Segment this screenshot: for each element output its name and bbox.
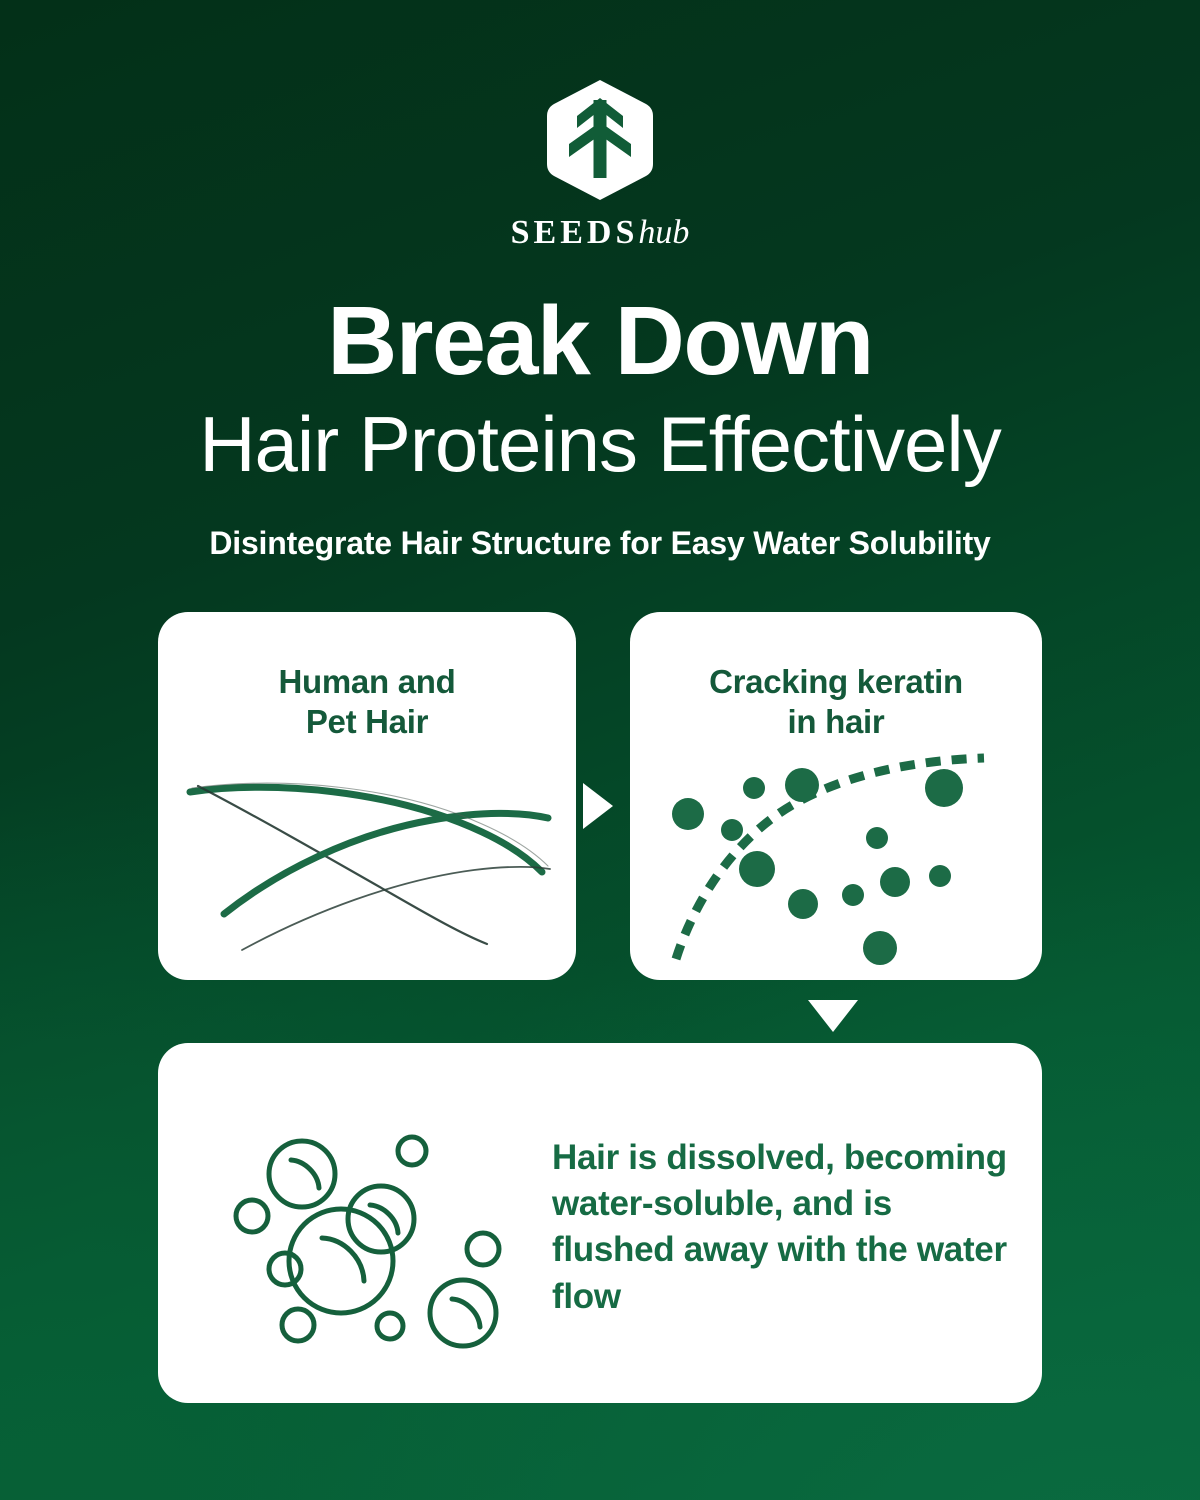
brand-logo: SEEDShub bbox=[0, 78, 1200, 250]
step-card-hair-dissolved: Hair is dissolved, becoming water-solubl… bbox=[158, 1043, 1042, 1403]
pine-tree-hexagon-icon bbox=[543, 78, 657, 202]
step-card-human-and-pet-hair: Human and Pet Hair bbox=[158, 612, 576, 980]
page-subheadline: Hair Proteins Effectively bbox=[0, 400, 1200, 490]
card-body-hair-dissolved: Hair is dissolved, becoming water-solubl… bbox=[552, 1135, 1022, 1320]
page-tagline: Disintegrate Hair Structure for Easy Wat… bbox=[0, 524, 1200, 562]
card-title-cracking-keratin: Cracking keratin in hair bbox=[630, 612, 1042, 743]
infographic-page: SEEDShub Break Down Hair Proteins Effect… bbox=[0, 0, 1200, 1500]
wordmark-hub: hub bbox=[638, 214, 689, 251]
card-title-line2: in hair bbox=[788, 703, 885, 740]
step-card-cracking-keratin: Cracking keratin in hair bbox=[630, 612, 1042, 980]
card-title-line2: Pet Hair bbox=[306, 703, 428, 740]
bubbles-icon bbox=[218, 1121, 528, 1351]
card-title-line1: Human and bbox=[279, 663, 456, 700]
page-headline: Break Down bbox=[0, 292, 1200, 389]
wordmark: SEEDShub bbox=[511, 216, 690, 250]
triangle-right-icon bbox=[583, 783, 613, 829]
keratin-particles-icon bbox=[654, 752, 1022, 967]
triangle-down-icon bbox=[808, 1000, 858, 1032]
card-title-line1: Cracking keratin bbox=[709, 663, 963, 700]
hair-strands-icon bbox=[182, 762, 552, 952]
card-title-human-and-pet-hair: Human and Pet Hair bbox=[158, 612, 576, 743]
wordmark-seeds: SEEDS bbox=[511, 214, 639, 251]
